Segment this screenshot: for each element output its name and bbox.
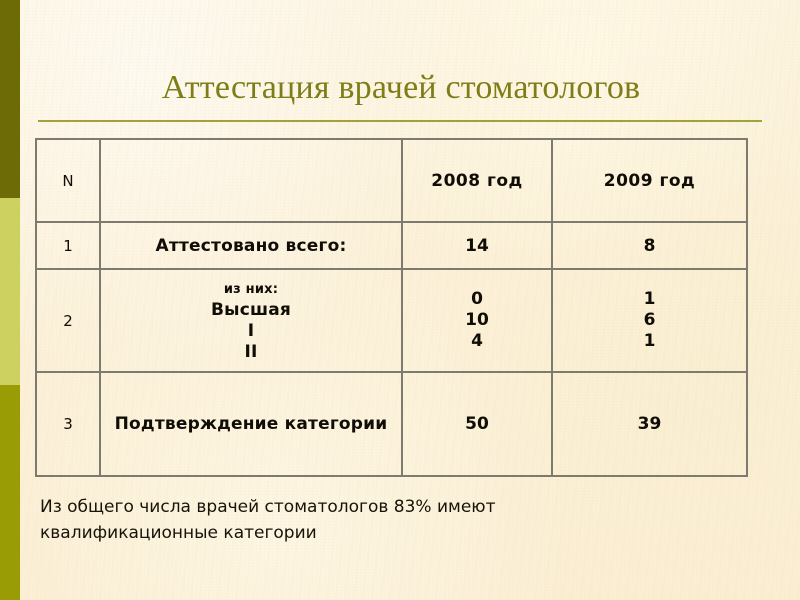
row-2-value-2008-line-2: 10	[407, 310, 547, 331]
title-underline-rule	[38, 120, 762, 122]
header-cell-year-2008: 2008 год	[402, 139, 552, 222]
row-1-value-2008: 14	[402, 222, 552, 269]
caption-line-1: Из общего числа врачей стоматологов 83% …	[40, 494, 680, 520]
decorative-sidebar	[0, 0, 20, 600]
header-cell-label	[100, 139, 402, 222]
row-2-value-2009-line-3: 1	[557, 331, 742, 352]
table-row: 1 Аттестовано всего: 14 8	[36, 222, 747, 269]
row-1-label: Аттестовано всего:	[100, 222, 402, 269]
table-row: 2 из них: Высшая I II 0 10 4	[36, 269, 747, 372]
row-3-num: 3	[36, 372, 100, 476]
table-header-row: N 2008 год 2009 год	[36, 139, 747, 222]
table-row: 3 Подтверждение категории 50 39	[36, 372, 747, 476]
row-2-value-2008: 0 10 4	[402, 269, 552, 372]
sidebar-band-dark-olive	[0, 0, 20, 198]
caption-line-2: квалификационные категории	[40, 520, 680, 546]
page-title: Аттестация врачей стоматологов	[40, 66, 762, 110]
header-cell-num: N	[36, 139, 100, 222]
slide-canvas: Аттестация врачей стоматологов N 2008 го…	[0, 0, 800, 600]
sidebar-band-light-green	[0, 198, 20, 385]
sidebar-band-olive	[0, 385, 20, 600]
row-3-value-2009: 39	[552, 372, 747, 476]
row-2-value-2008-line-3: 4	[407, 331, 547, 352]
row-2-label: из них: Высшая I II	[100, 269, 402, 372]
row-2-num: 2	[36, 269, 100, 372]
row-2-label-line-2: I	[105, 321, 397, 342]
slide-caption: Из общего числа врачей стоматологов 83% …	[40, 494, 680, 546]
row-1-num: 1	[36, 222, 100, 269]
row-2-value-2009-line-1: 1	[557, 289, 742, 310]
row-2-value-2009-line-2: 6	[557, 310, 742, 331]
row-2-value-2009: 1 6 1	[552, 269, 747, 372]
row-2-label-sub: из них:	[105, 279, 397, 300]
row-1-value-2009: 8	[552, 222, 747, 269]
header-cell-year-2009: 2009 год	[552, 139, 747, 222]
attestation-table: N 2008 год 2009 год 1 Аттестовано всего:…	[35, 138, 748, 477]
row-2-label-line-1: Высшая	[105, 300, 397, 321]
row-2-value-2008-line-1: 0	[407, 289, 547, 310]
row-2-label-line-3: II	[105, 342, 397, 363]
row-3-label: Подтверждение категории	[100, 372, 402, 476]
row-3-value-2008: 50	[402, 372, 552, 476]
